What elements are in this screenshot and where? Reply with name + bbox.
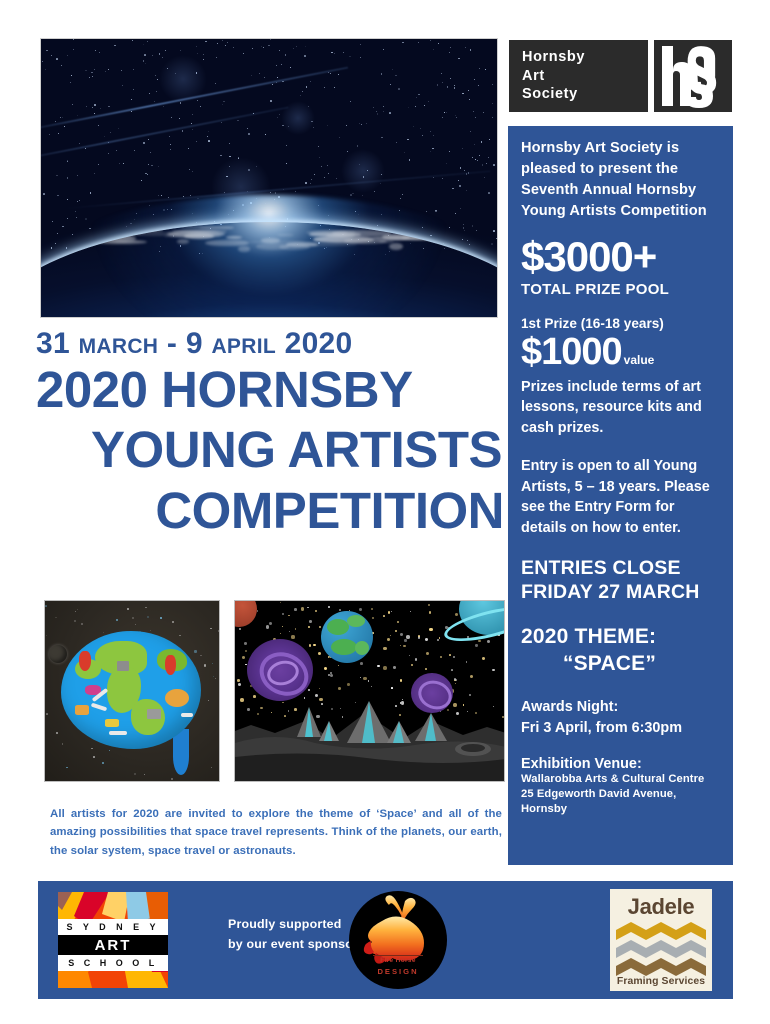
- landmass: [165, 689, 189, 707]
- venue-line-2: 25 Edgeworth David Avenue, Hornsby: [521, 787, 720, 817]
- headline-block: 31 March - 9 April 2020 2020 HORNSBY YOU…: [36, 328, 506, 542]
- entry-detail-text: Entry is open to all Young Artists, 5 – …: [521, 456, 720, 539]
- paint-blob: [147, 709, 161, 719]
- supported-line-2: by our event sponsors: [228, 934, 365, 954]
- paint-blob: [165, 655, 176, 675]
- sydney-art-school-logo: S Y D N E Y ART S C H O O L: [58, 892, 168, 988]
- red-planet-icon: [234, 600, 257, 627]
- lens-flare-icon: [281, 101, 315, 135]
- ringed-planet-icon: [447, 600, 505, 649]
- paint-blob: [91, 703, 107, 712]
- lens-flare-icon: [341, 149, 385, 193]
- theme-block: 2020 THEME: “SPACE”: [521, 624, 720, 677]
- earth-from-space-image: [40, 38, 498, 318]
- awards-night-detail: Fri 3 April, from 6:30pm: [521, 718, 720, 738]
- has-monogram-icon: [654, 40, 732, 112]
- title-line-2: YOUNG ARTISTS: [36, 420, 506, 481]
- sas-line-3: S C H O O L: [58, 955, 168, 971]
- exhibition-venue-title: Exhibition Venue:: [521, 756, 720, 772]
- divider: [373, 955, 423, 956]
- theme-caption: All artists for 2020 are invited to expl…: [50, 805, 502, 860]
- hornsby-art-society-logo: Hornsby Art Society: [509, 40, 732, 112]
- title-line-3: COMPETITION: [36, 481, 506, 542]
- sponsor-bar: S Y D N E Y ART S C H O O L Proudly supp…: [38, 881, 733, 999]
- earth-planet-icon: [321, 611, 373, 663]
- logo-text-box: Hornsby Art Society: [509, 40, 648, 112]
- jadele-framing-services-logo: Jadele Framing Services: [610, 889, 712, 991]
- paint-blob: [109, 731, 127, 735]
- prizes-detail-text: Prizes include terms of art lessons, res…: [521, 377, 720, 439]
- panel-intro-text: Hornsby Art Society is pleased to presen…: [521, 138, 720, 222]
- paint-blob: [117, 661, 129, 671]
- paint-blob: [79, 651, 91, 671]
- jadele-name: Jadele: [610, 894, 712, 920]
- awards-night-block: Awards Night: Fri 3 April, from 6:30pm: [521, 697, 720, 738]
- sas-line-1: S Y D N E Y: [58, 919, 168, 935]
- cloud-layer: [40, 222, 498, 318]
- info-panel: Hornsby Art Society is pleased to presen…: [508, 126, 733, 865]
- supported-line-1: Proudly supported: [228, 914, 365, 934]
- awards-night-title: Awards Night:: [521, 697, 720, 717]
- earth-globe: [61, 631, 201, 749]
- mountain-landscape: [235, 691, 505, 781]
- theme-line-2: “SPACE”: [521, 651, 720, 677]
- jadele-subtitle: Framing Services: [610, 976, 712, 987]
- theme-line-1: 2020 THEME:: [521, 624, 720, 650]
- fire-horse-line-2: DESIGN: [349, 967, 447, 976]
- first-prize-label: 1st Prize (16-18 years): [521, 316, 720, 331]
- first-prize-amount-row: $1000value: [521, 333, 720, 373]
- first-prize-value-word: value: [624, 353, 655, 367]
- lens-flare-icon: [159, 55, 207, 103]
- logo-line-3: Society: [522, 85, 648, 104]
- venue-line-1: Wallarobba Arts & Cultural Centre: [521, 772, 720, 787]
- paint-blob: [105, 719, 119, 727]
- space-landscape-drawing: [234, 600, 505, 782]
- event-dates: 31 March - 9 April 2020: [36, 328, 506, 360]
- paint-blob: [75, 705, 89, 715]
- fire-horse-design-logo: Fire Horse DESIGN: [349, 891, 447, 989]
- supported-by-text: Proudly supported by our event sponsors: [228, 914, 365, 954]
- total-prize-amount: $3000+: [521, 236, 720, 279]
- logo-line-1: Hornsby: [522, 48, 648, 67]
- poster-root: Hornsby Art Society Hornsby Art Society …: [0, 0, 770, 1024]
- entries-close-line-2: FRIDAY 27 MARCH: [521, 581, 720, 605]
- logo-line-2: Art: [522, 67, 648, 86]
- first-prize-amount: $1000: [521, 331, 622, 373]
- paint-blob: [181, 713, 193, 717]
- sas-line-2: ART: [58, 935, 168, 955]
- total-prize-pool-label: TOTAL PRIZE POOL: [521, 281, 720, 298]
- melting-earth-painting: [44, 600, 220, 782]
- entries-close-block: ENTRIES CLOSE FRIDAY 27 MARCH: [521, 557, 720, 605]
- fire-horse-line-1: Fire Horse: [349, 957, 447, 964]
- moon-icon: [49, 645, 67, 663]
- chevron-pattern-icon: [616, 922, 706, 976]
- entries-close-line-1: ENTRIES CLOSE: [521, 557, 720, 581]
- title-line-1: 2020 HORNSBY: [36, 360, 506, 421]
